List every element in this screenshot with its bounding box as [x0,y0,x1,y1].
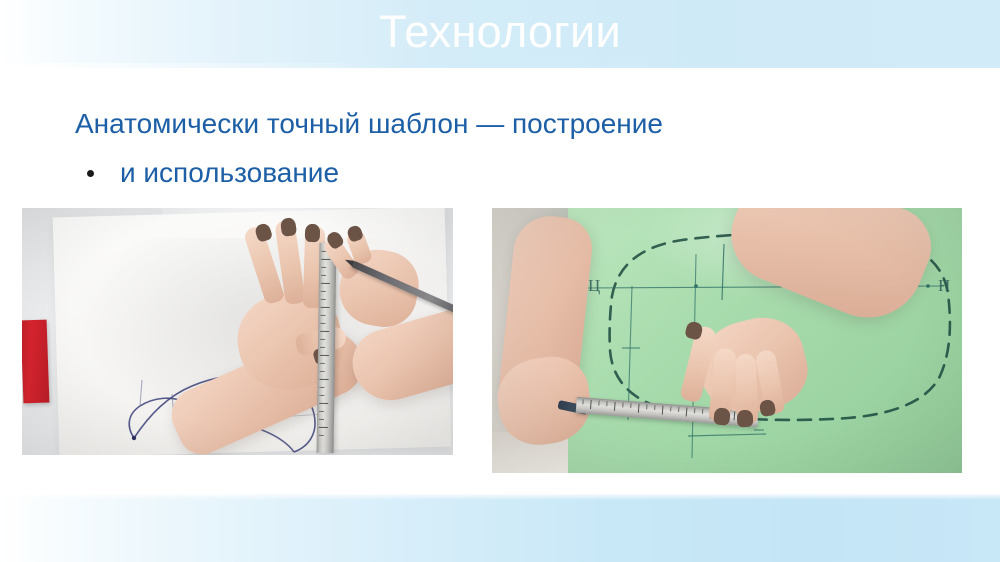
slide-canvas: Технологии Анатомически точный шаблон — … [0,0,1000,562]
nail-ring [305,224,321,243]
steel-ruler-vertical [317,243,337,453]
ruler-tick-marks [317,243,337,453]
mark-label-right: Н [938,276,950,296]
mark-label-left: Ц [588,276,600,296]
body-heading-line: Анатомически точный шаблон — построение [70,104,900,144]
bottom-decoration-band [0,494,1000,562]
bullet-list-item: и использование [70,153,900,193]
photo-right-usage: Ц Н [492,208,962,473]
page-title: Технологии [0,1,1000,63]
r-nail-ring [737,410,754,428]
bullet-item-label: и использование [120,157,339,188]
bullet-point-icon [87,170,94,177]
title-banner: Технологии [0,0,1000,68]
r-nail-middle [713,407,731,426]
photo-left-construction [22,208,453,455]
body-text-block: Анатомически точный шаблон — построение … [70,104,900,193]
